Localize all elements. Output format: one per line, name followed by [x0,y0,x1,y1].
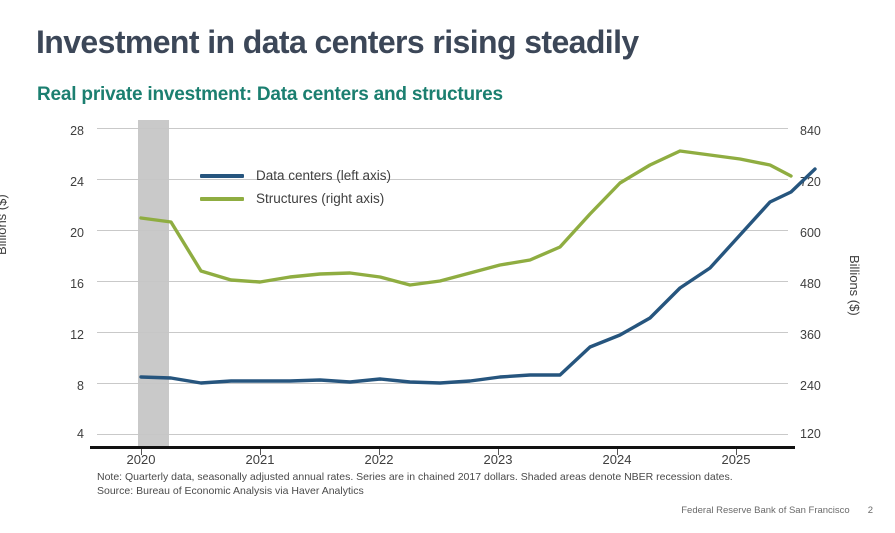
legend-item-data-centers: Data centers (left axis) [200,164,391,187]
slide-footer: Federal Reserve Bank of San Francisco 2 [681,505,873,516]
legend-label-structures: Structures (right axis) [256,191,384,206]
y-tick-left-12: 12 [44,328,84,342]
y-tick-right-600: 600 [800,226,846,240]
y-tick-left-8: 8 [44,379,84,393]
x-tick-label-2021: 2021 [230,452,290,467]
x-tick-label-2024: 2024 [587,452,647,467]
footnote-note: Note: Quarterly data, seasonally adjuste… [97,470,733,484]
y-axis-title-left: Billions ($) [0,194,9,255]
footer-organization: Federal Reserve Bank of San Francisco [681,505,849,516]
legend-item-structures: Structures (right axis) [200,187,391,210]
y-tick-right-480: 480 [800,277,846,291]
footnote-source: Source: Bureau of Economic Analysis via … [97,484,733,498]
chart-footnotes: Note: Quarterly data, seasonally adjuste… [97,470,733,498]
y-tick-right-120: 120 [800,427,846,441]
y-axis-title-right: Billions ($) [847,255,862,316]
y-tick-right-240: 240 [800,379,846,393]
chart-legend: Data centers (left axis) Structures (rig… [200,164,391,210]
legend-swatch-structures [200,197,244,201]
x-tick-label-2022: 2022 [349,452,409,467]
x-tick-label-2025: 2025 [706,452,766,467]
y-tick-left-28: 28 [44,124,84,138]
legend-label-data-centers: Data centers (left axis) [256,168,391,183]
footer-page-number: 2 [868,505,873,516]
plot-area: Data centers (left axis) Structures (rig… [97,128,788,447]
slide-root: Investment in data centers rising steadi… [0,0,895,533]
chart-subtitle: Real private investment: Data centers an… [37,84,503,106]
y-tick-right-360: 360 [800,328,846,342]
x-tick-label-2020: 2020 [111,452,171,467]
y-tick-left-4: 4 [44,427,84,441]
legend-swatch-data-centers [200,174,244,178]
y-tick-right-840: 840 [800,124,846,138]
x-axis-baseline [90,446,795,449]
x-tick-label-2023: 2023 [468,452,528,467]
page-title: Investment in data centers rising steadi… [36,24,639,61]
y-tick-left-24: 24 [44,175,84,189]
y-tick-left-16: 16 [44,277,84,291]
y-tick-left-20: 20 [44,226,84,240]
